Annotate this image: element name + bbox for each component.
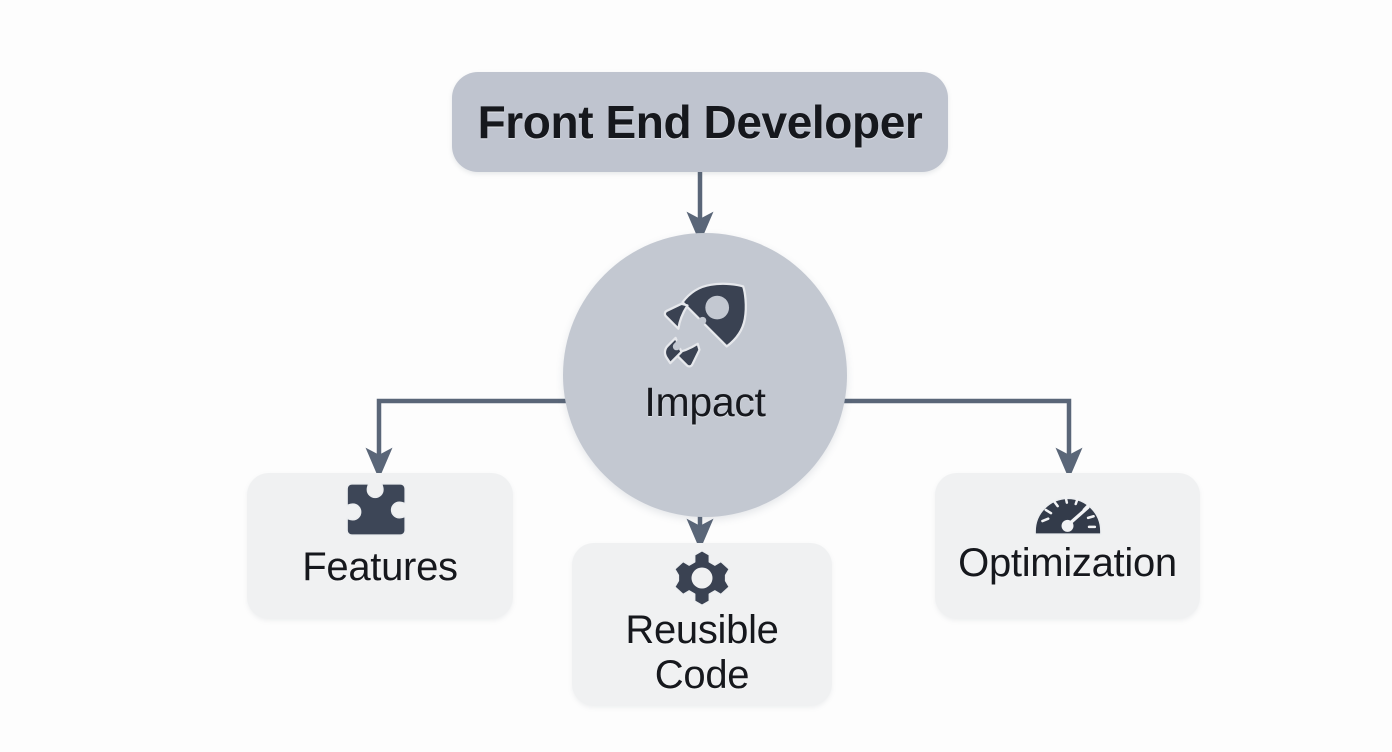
root-node-label: Front End Developer	[478, 95, 923, 149]
root-node-front-end-developer[interactable]: Front End Developer	[452, 72, 948, 172]
leaf-node-optimization[interactable]: Optimization	[935, 473, 1200, 619]
leaf-node-label: Features	[302, 545, 457, 590]
gear-hole-icon	[691, 567, 712, 588]
leaf-node-label: Optimization	[958, 541, 1177, 586]
leaf-node-label: Reusible Code	[625, 608, 778, 698]
speedometer-icon	[1033, 481, 1103, 537]
puzzle-piece-icon	[341, 479, 419, 541]
gear-icon	[672, 549, 732, 607]
leaf-node-features[interactable]: Features	[247, 473, 513, 619]
rocket-window-icon	[705, 296, 729, 320]
hub-node-label: Impact	[644, 379, 765, 426]
speedometer-hub-icon	[1061, 520, 1073, 532]
leaf-node-reusible-code[interactable]: Reusible Code	[572, 543, 832, 706]
rocket-icon	[653, 271, 757, 375]
hub-node-impact[interactable]: Impact	[563, 233, 847, 517]
diagram-canvas: Front End Developer Impact Feat	[0, 0, 1392, 752]
